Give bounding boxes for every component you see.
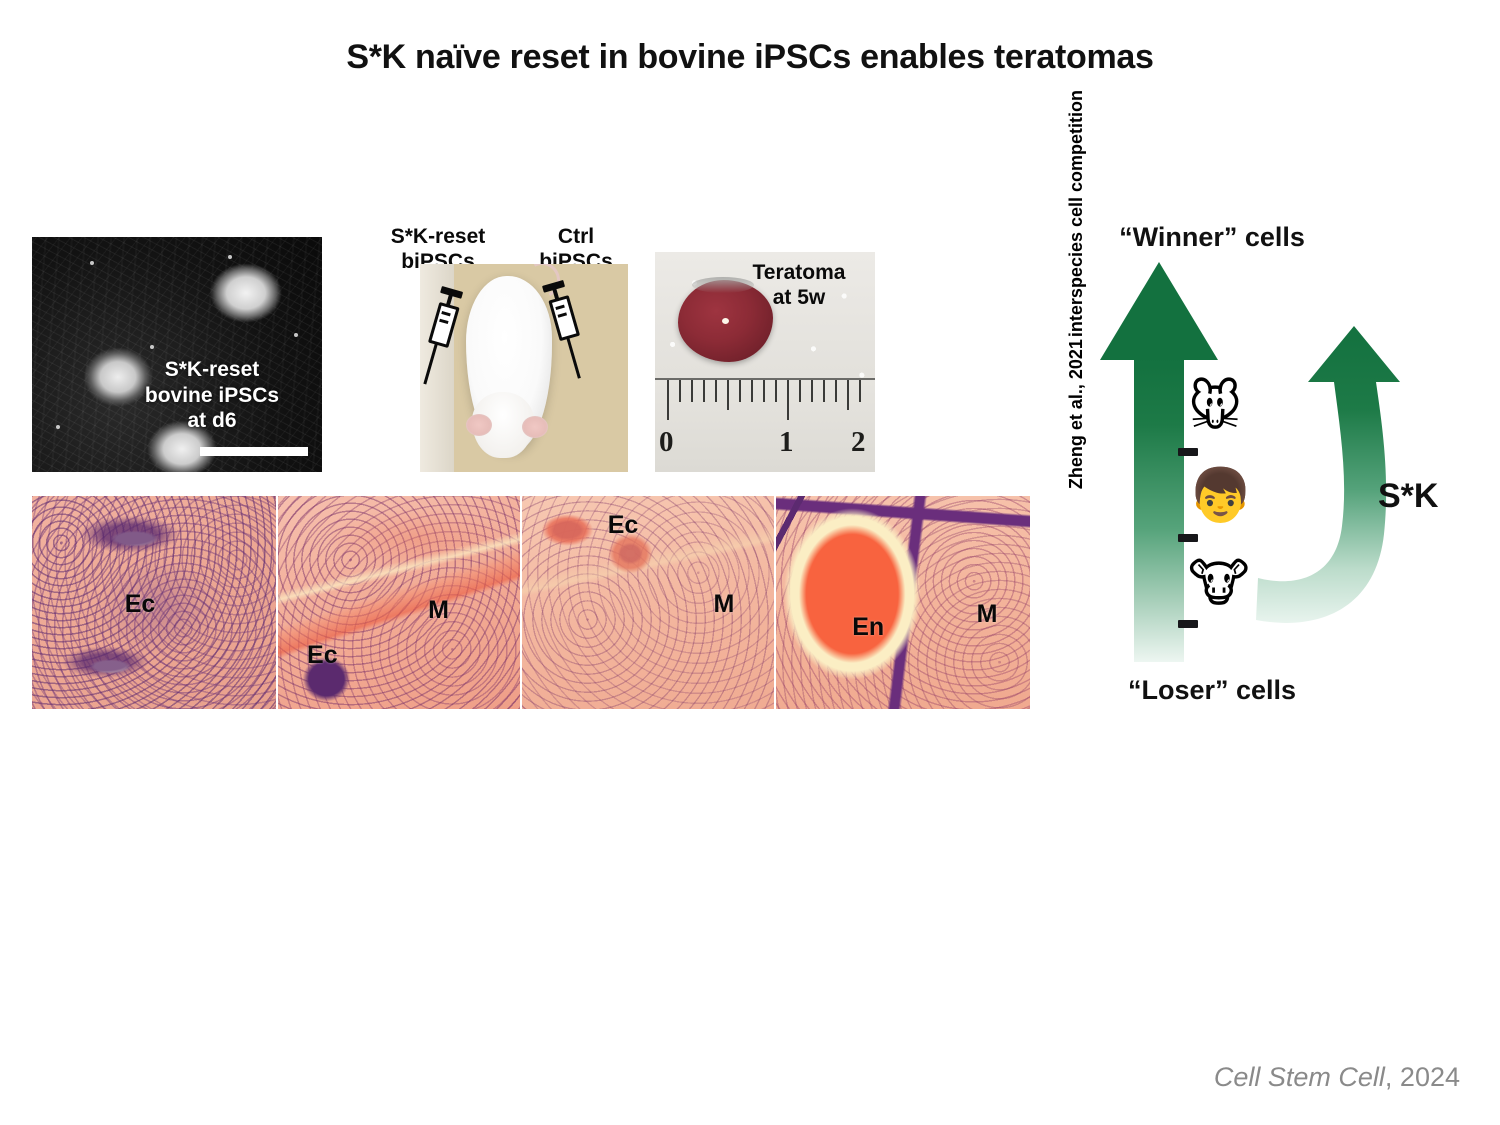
competition-axis-caption: interspecies cell competition Zheng et a… — [1066, 90, 1100, 370]
phase-contrast-caption: S*K-reset bovine iPSCs at d6 — [112, 357, 312, 434]
winner-cells-label: “Winner” cells — [1062, 222, 1362, 253]
he-stain-image-2 — [278, 496, 520, 709]
mouse-emoji-icon: 🐭 — [1188, 382, 1242, 434]
histology-label: En — [852, 613, 884, 642]
citation-year: 2024 — [1400, 1062, 1460, 1092]
histology-panel-strip: Ec M Ec Ec M En M — [32, 496, 1030, 709]
histology-label: M — [428, 596, 449, 625]
axis-tick-human — [1178, 534, 1198, 542]
journal-name: Cell Stem Cell — [1214, 1062, 1385, 1092]
histology-label: Ec — [608, 511, 639, 540]
histology-label: Ec — [307, 641, 338, 670]
ruler-tick-2: 2 — [851, 426, 866, 459]
teratoma-caption: Teratoma at 5w — [731, 260, 867, 310]
micrograph-image — [32, 237, 322, 472]
arrow-head — [1100, 262, 1218, 360]
axis-caption-line1: interspecies cell competition — [1066, 90, 1100, 337]
axis-tick-mouse — [1178, 448, 1198, 456]
histology-label: Ec — [125, 590, 156, 619]
teratoma-caption-line2: at 5w — [731, 285, 867, 310]
caption-line-2: bovine iPSCs — [112, 383, 312, 409]
page-title: S*K naïve reset in bovine iPSCs enables … — [0, 38, 1500, 77]
he-stain-image-3 — [522, 496, 774, 709]
ruler-tick-0: 0 — [659, 426, 674, 459]
table-row: M Ec — [278, 496, 522, 709]
caption-line-3: at d6 — [112, 408, 312, 434]
mouse-ear — [466, 414, 492, 436]
table-row: Ec — [32, 496, 278, 709]
axis-caption-line2: Zheng et al., 2021 — [1066, 339, 1100, 489]
table-row: En M — [776, 496, 1030, 709]
mouse-photo — [420, 264, 628, 472]
axis-tick-bovine — [1178, 620, 1198, 628]
mouse-ear — [522, 416, 548, 438]
ruler: 0 1 2 — [655, 378, 875, 472]
arrow-shaft — [1134, 358, 1184, 662]
injection-label-left-line1: S*K-reset — [378, 224, 498, 249]
histology-label: M — [714, 590, 735, 619]
cell-competition-diagram: “Winner” cells “Loser” cells interspecie… — [1040, 222, 1480, 722]
scale-bar — [200, 447, 308, 456]
ruler-tick-1: 1 — [779, 426, 794, 459]
journal-citation: Cell Stem Cell, 2024 — [0, 1062, 1460, 1093]
loser-cells-label: “Loser” cells — [1062, 675, 1362, 706]
debris-speck — [90, 261, 94, 265]
table-row: Ec M — [522, 496, 776, 709]
debris-speck — [150, 345, 154, 349]
phase-contrast-micrograph: S*K-reset bovine iPSCs at d6 — [32, 237, 322, 472]
debris-speck — [228, 255, 232, 259]
caption-line-1: S*K-reset — [112, 357, 312, 383]
citation-separator: , — [1385, 1062, 1400, 1092]
curved-arrow-path — [1256, 326, 1400, 623]
human-emoji-icon: 👦 — [1188, 470, 1253, 522]
sk-reset-label: S*K — [1378, 477, 1438, 516]
injection-label-right-line1: Ctrl — [520, 224, 632, 249]
debris-speck — [56, 425, 60, 429]
bovine-emoji-icon: 🐮 — [1188, 558, 1250, 610]
teratoma-photo: Teratoma at 5w 0 1 2 — [655, 252, 875, 472]
histology-label: M — [977, 600, 998, 629]
teratoma-caption-line1: Teratoma — [731, 260, 867, 285]
debris-speck — [294, 333, 298, 337]
